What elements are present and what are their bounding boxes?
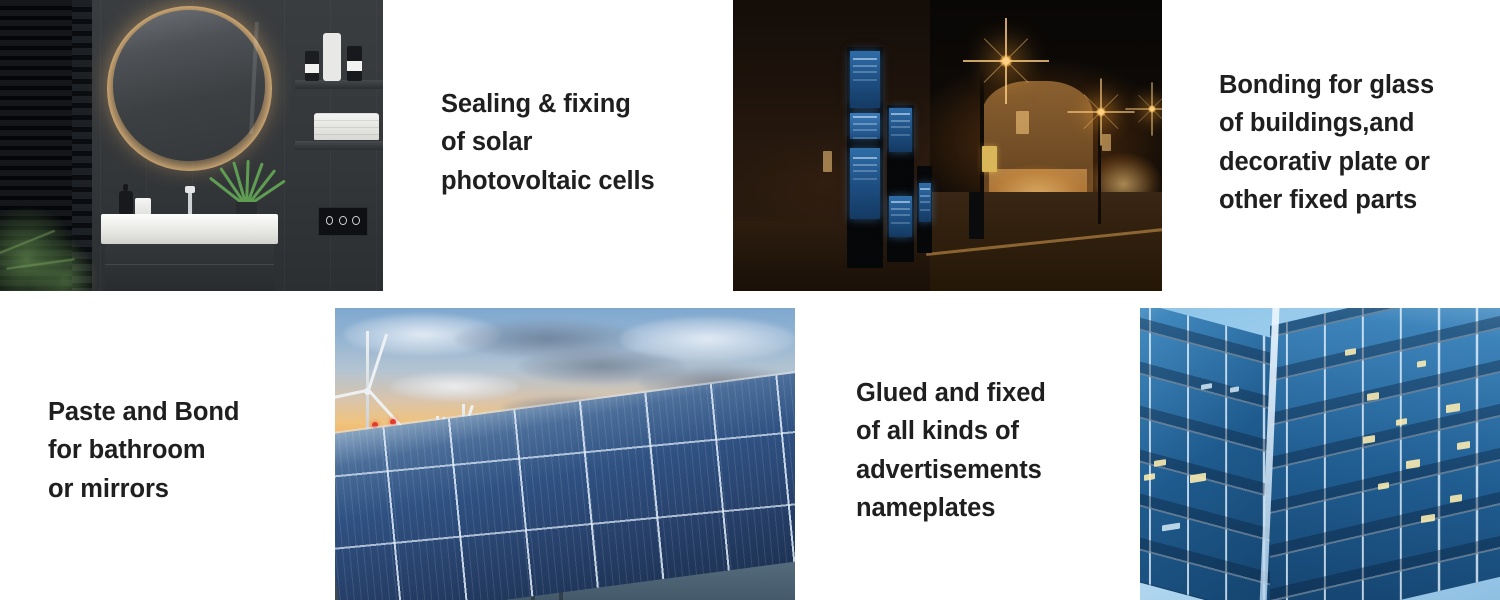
faucet bbox=[188, 191, 192, 217]
bathroom-photo bbox=[0, 0, 383, 291]
window-light bbox=[823, 151, 832, 171]
window-light bbox=[1102, 134, 1111, 151]
kiosk-screen-bottom bbox=[889, 196, 912, 237]
vanity-countertop bbox=[101, 214, 277, 245]
night-street-photo-card bbox=[733, 0, 1162, 291]
text-card-body: Glued and fixed of all kinds of advertis… bbox=[812, 312, 1128, 589]
folded-towels bbox=[314, 113, 379, 139]
solar-farm-photo-card bbox=[335, 308, 795, 600]
kiosk-screen-top bbox=[889, 108, 912, 152]
night-street-photo bbox=[733, 0, 1162, 291]
lower-shelf bbox=[295, 141, 383, 150]
text-card-body: Paste and Bond for bathroom or mirrors bbox=[4, 312, 320, 589]
warning-light bbox=[372, 422, 378, 428]
kiosk-screen-middle bbox=[850, 113, 881, 140]
lit-window bbox=[1367, 392, 1379, 401]
cloud bbox=[620, 317, 795, 361]
street-lamp-light bbox=[1096, 106, 1107, 117]
wall-switch-plate bbox=[318, 207, 368, 236]
wayfinding-kiosk-second bbox=[887, 105, 914, 262]
sealing-solar-text-card: Sealing & fixing of solar photovoltaic c… bbox=[397, 4, 713, 281]
litter-bin bbox=[969, 192, 983, 239]
glued-advertisement-text-card: Glued and fixed of all kinds of advertis… bbox=[812, 312, 1128, 589]
street-lamp-light-far bbox=[1147, 105, 1156, 114]
solar-farm-photo bbox=[335, 308, 795, 600]
glass-building-photo bbox=[1140, 308, 1500, 600]
glued-advertisement-label: Glued and fixed of all kinds of advertis… bbox=[812, 374, 1062, 527]
vanity-cabinet bbox=[105, 244, 274, 291]
text-card-body: Bonding for glass of buildings,and decor… bbox=[1175, 4, 1491, 281]
sealing-solar-label: Sealing & fixing of solar photovoltaic c… bbox=[397, 85, 671, 200]
bonding-glass-text-card: Bonding for glass of buildings,and decor… bbox=[1175, 4, 1491, 281]
wayfinding-kiosk-third bbox=[917, 166, 932, 253]
round-mirror bbox=[113, 10, 264, 161]
kiosk-screen-bottom bbox=[850, 148, 881, 219]
glass-building-photo-card bbox=[1140, 308, 1500, 600]
potted-plant-leaves bbox=[207, 160, 284, 207]
foreground-fern bbox=[0, 163, 107, 291]
bathroom-photo-card bbox=[0, 0, 383, 291]
glass-facade-right bbox=[1270, 308, 1500, 600]
bonding-glass-label: Bonding for glass of buildings,and decor… bbox=[1175, 66, 1450, 219]
street-lamp-light bbox=[999, 54, 1013, 68]
text-card-body: Sealing & fixing of solar photovoltaic c… bbox=[397, 4, 713, 281]
wayfinding-kiosk-main bbox=[847, 47, 883, 268]
yellow-street-sign bbox=[982, 146, 997, 172]
soap-dispenser bbox=[119, 191, 133, 216]
window-light bbox=[1016, 111, 1029, 134]
toiletry-bottles bbox=[303, 33, 372, 81]
application-showcase-grid: Sealing & fixing of solar photovoltaic c… bbox=[0, 0, 1500, 600]
kiosk-screen-top bbox=[850, 51, 881, 109]
paste-bond-label: Paste and Bond for bathroom or mirrors bbox=[4, 393, 255, 508]
kiosk-screen-bottom bbox=[919, 183, 931, 221]
paste-bond-text-card: Paste and Bond for bathroom or mirrors bbox=[4, 312, 320, 589]
lit-window bbox=[1417, 360, 1426, 367]
